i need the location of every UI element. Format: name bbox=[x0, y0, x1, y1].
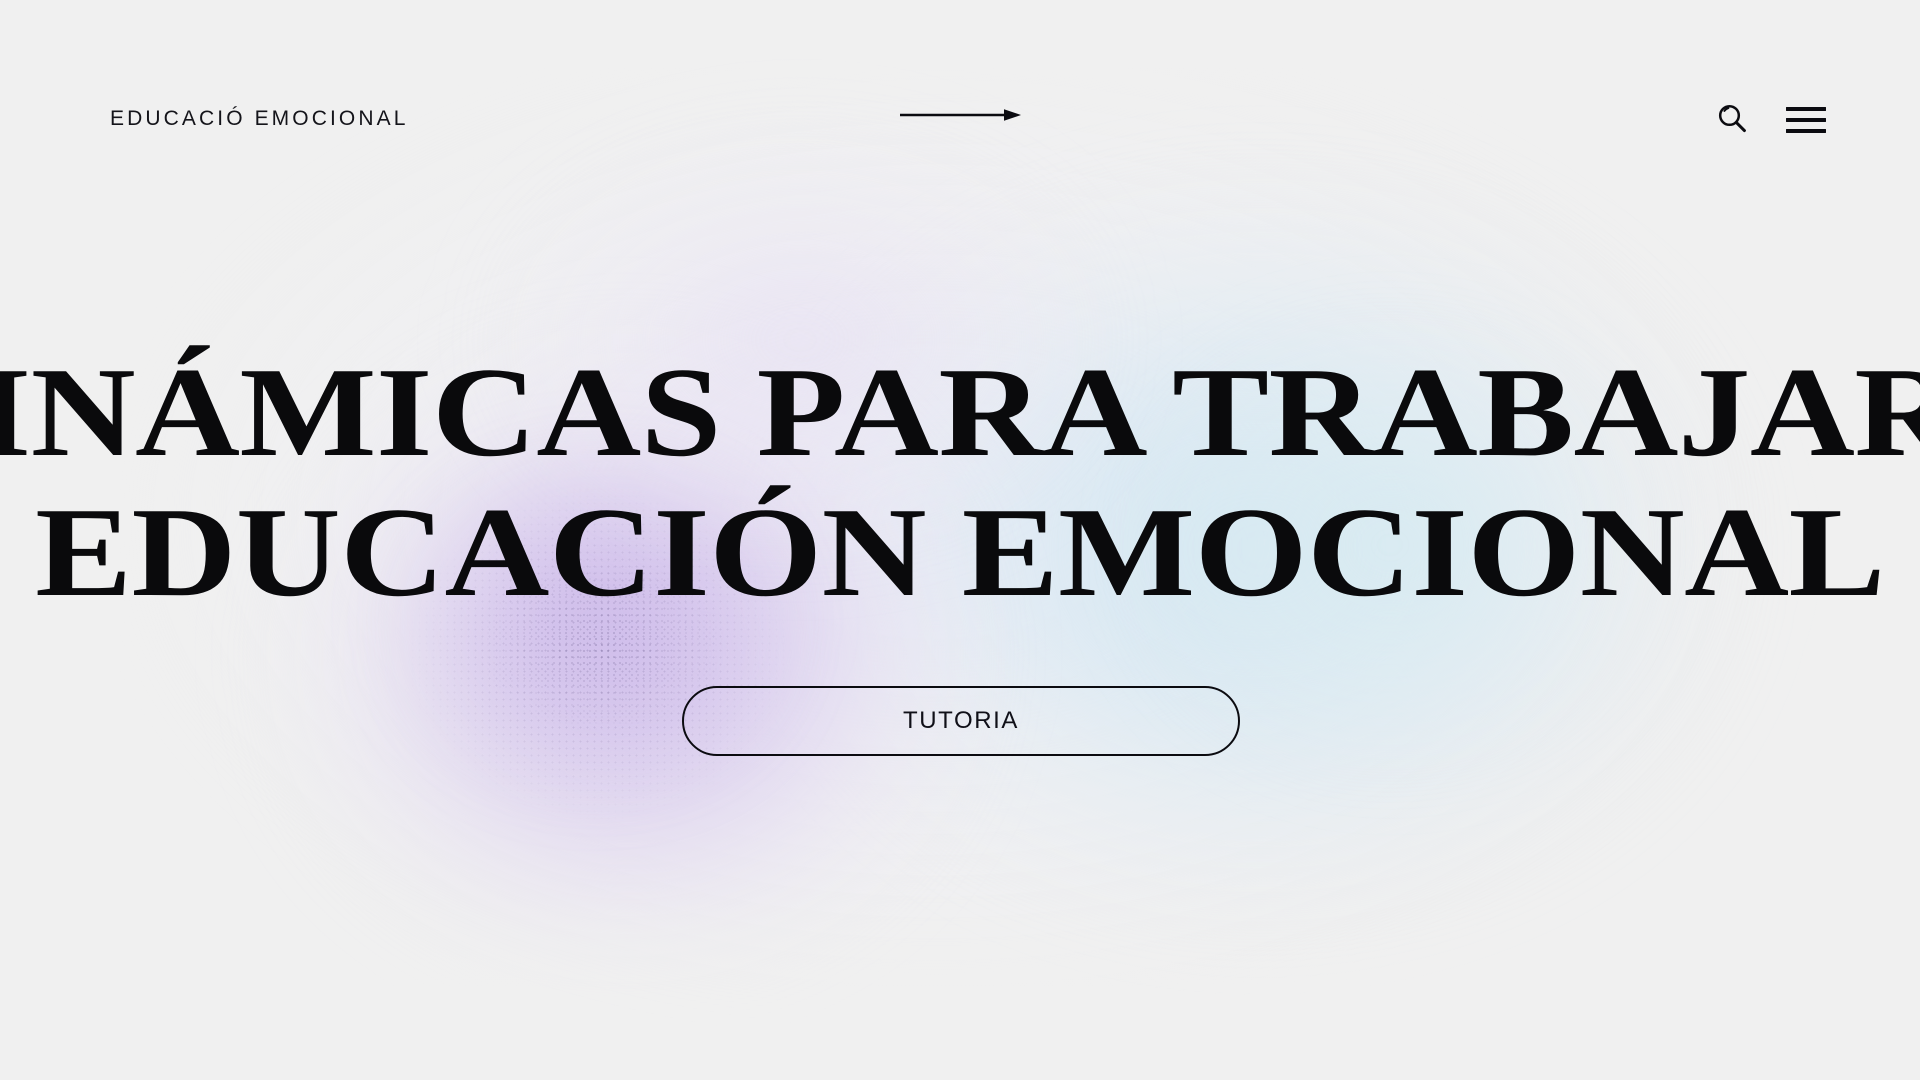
menu-icon bbox=[1786, 107, 1826, 133]
brand-logo[interactable]: EDUCACIÓ EMOCIONAL bbox=[110, 108, 409, 129]
menu-button[interactable] bbox=[1784, 98, 1828, 142]
search-button[interactable] bbox=[1710, 98, 1754, 142]
tutoria-button[interactable]: TUTORIA bbox=[682, 686, 1240, 756]
arrow-right-icon[interactable] bbox=[900, 108, 1022, 122]
search-icon bbox=[1715, 102, 1749, 139]
menu-icon-bar-1 bbox=[1786, 107, 1826, 111]
page-title-line-1: DINÁMICAS PARA TRABAJAR LA bbox=[0, 352, 1920, 472]
menu-icon-bar-3 bbox=[1786, 129, 1826, 133]
menu-icon-bar-2 bbox=[1786, 118, 1826, 122]
site-header: EDUCACIÓ EMOCIONAL bbox=[0, 0, 1920, 200]
header-actions bbox=[1710, 98, 1828, 142]
page-title-line-2: EDUCACIÓN EMOCIONAL bbox=[0, 492, 1920, 612]
page-root: EDUCACIÓ EMOCIONAL bbox=[0, 0, 1920, 1080]
page-title: DINÁMICAS PARA TRABAJAR LA EDUCACIÓN EMO… bbox=[0, 352, 1920, 613]
